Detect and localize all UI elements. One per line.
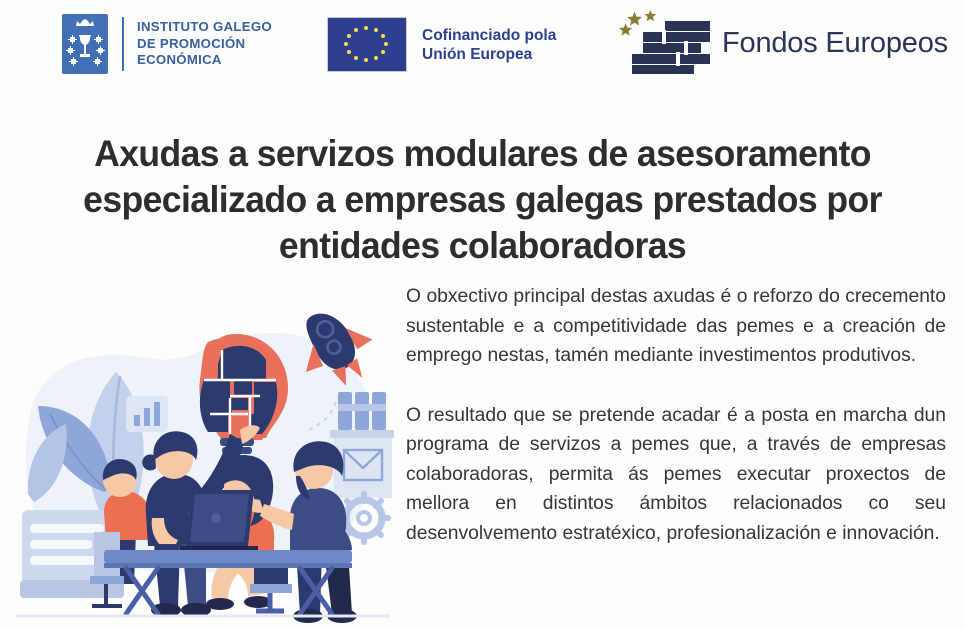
body-paragraph-2: O resultado que se pretende acadar é a p… — [406, 401, 946, 549]
eu-line-2: Unión Europea — [422, 45, 556, 64]
eu-logo-text: Cofinanciado pola Unión Europea — [422, 26, 556, 64]
igape-logo-text: INSTITUTO GALEGO DE PROMOCIÓN ECONÓMICA — [137, 19, 272, 69]
eu-star-icon — [347, 34, 351, 38]
igape-line-3: ECONÓMICA — [137, 52, 272, 69]
team-collaboration-illustration — [8, 284, 398, 624]
eu-star-icon — [374, 28, 378, 32]
crown-icon — [75, 19, 95, 27]
logo-bar: INSTITUTO GALEGO DE PROMOCIÓN ECONÓMICA … — [0, 0, 965, 92]
chart-picture-icon — [126, 396, 168, 432]
eu-flag-icon — [327, 17, 407, 72]
logo-european-union: Cofinanciado pola Unión Europea — [327, 17, 556, 72]
eu-star-icon — [344, 42, 348, 46]
igape-line-1: INSTITUTO GALEGO — [137, 19, 272, 36]
eu-star-icon — [347, 50, 351, 54]
cross-icon — [95, 59, 100, 64]
eu-star-icon — [364, 58, 368, 62]
cross-icon — [71, 59, 76, 64]
eu-star-icon — [381, 50, 385, 54]
logo-divider — [122, 17, 124, 71]
logo-fondos-europeos: Fondos Europeos — [618, 8, 948, 78]
body-paragraph-1: O obxectivo principal destas axudas é o … — [406, 282, 946, 371]
body-text-column: O obxectivo principal destas axudas é o … — [406, 282, 946, 548]
shelf-binders-icon — [330, 392, 394, 498]
eu-star-icon — [364, 26, 368, 30]
eu-star-icon — [381, 34, 385, 38]
galicia-coat-of-arms-icon — [62, 14, 108, 74]
laptop-icon — [180, 490, 258, 553]
fondos-europeos-stairs-icon — [618, 8, 714, 78]
cross-icon — [96, 37, 101, 42]
fondos-europeos-text: Fondos Europeos — [722, 27, 948, 60]
cross-icon — [68, 48, 73, 53]
eu-line-1: Cofinanciado pola — [422, 26, 556, 45]
eu-star-icon — [374, 56, 378, 60]
chalice-icon — [77, 33, 93, 61]
cross-icon — [98, 48, 103, 53]
logo-igape: INSTITUTO GALEGO DE PROMOCIÓN ECONÓMICA — [62, 14, 272, 74]
eu-star-icon — [384, 42, 388, 46]
igape-line-2: DE PROMOCIÓN — [137, 36, 272, 53]
eu-star-icon — [354, 28, 358, 32]
cross-icon — [70, 37, 75, 42]
illustration-svg — [8, 284, 398, 624]
page-title: Axudas a servizos modulares de asesorame… — [19, 131, 945, 269]
eu-star-icon — [354, 56, 358, 60]
content-area: O obxectivo principal destas axudas é o … — [0, 268, 965, 626]
